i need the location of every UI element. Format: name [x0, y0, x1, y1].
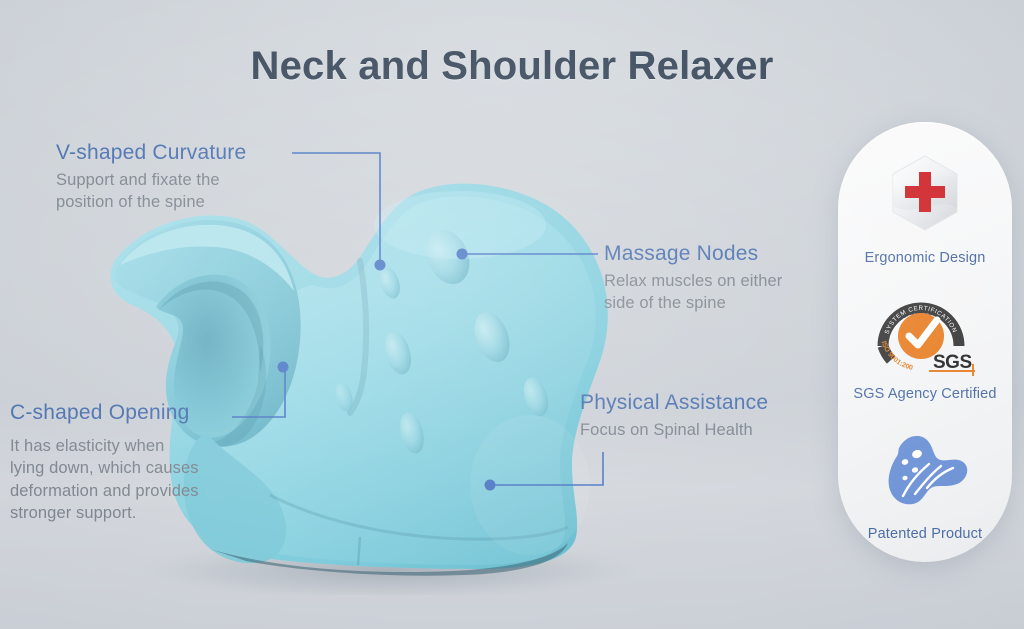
product-image: [60, 165, 680, 595]
callout-heading: V-shaped Curvature: [56, 140, 266, 165]
callout-v-shaped-curvature: V-shaped Curvature Support and fixate th…: [56, 140, 266, 214]
certification-label: Patented Product: [838, 526, 1012, 542]
callout-heading: Physical Assistance: [580, 390, 768, 415]
certification-label: SGS Agency Certified: [838, 386, 1012, 402]
callout-c-shaped-opening: C-shaped Opening It has elasticity when …: [10, 400, 200, 524]
red-cross-hexagon-icon: [838, 146, 1012, 242]
infographic-canvas: Neck and Shoulder Relaxer: [0, 0, 1024, 629]
patented-pillow-icon: [838, 422, 1012, 518]
svg-text:SGS: SGS: [933, 352, 972, 373]
callout-body: Relax muscles on either side of the spin…: [604, 270, 804, 315]
certification-panel: Ergonomic Design SYSTEM CERTIFICATION CE…: [838, 122, 1012, 562]
callout-heading: Massage Nodes: [604, 241, 804, 266]
certification-item-patented: Patented Product: [838, 422, 1012, 542]
callout-massage-nodes: Massage Nodes Relax muscles on either si…: [604, 241, 804, 315]
certification-item-sgs: SYSTEM CERTIFICATION CERTIFICATION DE SY…: [838, 282, 1012, 402]
callout-heading: C-shaped Opening: [10, 400, 200, 425]
callout-body: Focus on Spinal Health: [580, 419, 768, 441]
callout-body: It has elasticity when lying down, which…: [10, 435, 200, 524]
certification-item-ergonomic-design: Ergonomic Design: [838, 146, 1012, 266]
callout-body: Support and fixate the position of the s…: [56, 169, 266, 214]
page-title: Neck and Shoulder Relaxer: [0, 44, 1024, 89]
certification-label: Ergonomic Design: [838, 250, 1012, 266]
callout-physical-assistance: Physical Assistance Focus on Spinal Heal…: [580, 390, 768, 441]
sgs-iso-certification-icon: SYSTEM CERTIFICATION CERTIFICATION DE SY…: [838, 282, 1012, 378]
